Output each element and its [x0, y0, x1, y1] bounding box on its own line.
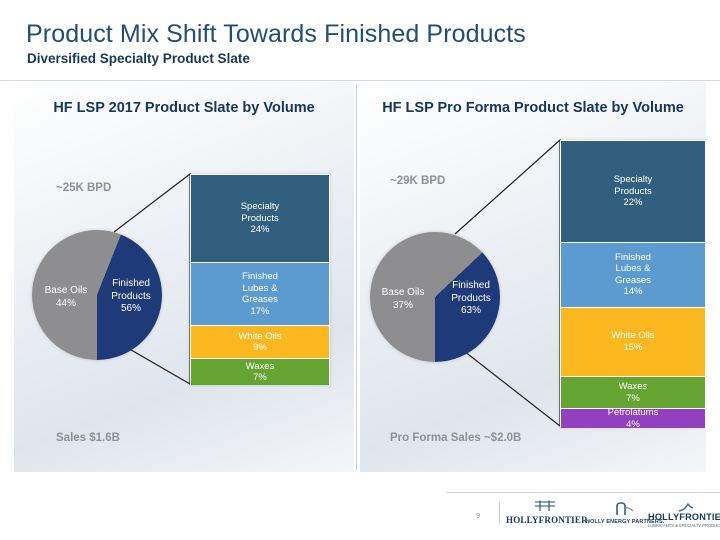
- panel-title-left: HF LSP 2017 Product Slate by Volume: [14, 100, 354, 116]
- logo-wordmark: HOLLYFRONTIER: [648, 513, 720, 522]
- bar-segment-label: White Oils 9%: [238, 331, 281, 354]
- bar-segment-label: Specialty Products 22%: [614, 174, 653, 209]
- lsp-swoosh-icon: [648, 503, 720, 512]
- panel-divider: [356, 84, 357, 470]
- pie-label-base-oils-left: Base Oils 44%: [38, 285, 94, 310]
- panel-pro-forma: HF LSP Pro Forma Product Slate by Volume…: [360, 82, 706, 472]
- bar-segment-label: Waxes 7%: [619, 381, 648, 404]
- bar-segment-finished-lubes-greases: Finished Lubes & Greases 14%: [561, 243, 705, 308]
- bar-segment-white-oils: White Oils 15%: [561, 308, 705, 377]
- logo-tagline: LUBRICANTS & SPECIALTY PRODUCTS: [648, 524, 720, 528]
- bar-segment-label: White Oils 15%: [611, 330, 654, 353]
- bar-segment-specialty-products: Specialty Products 24%: [191, 175, 329, 263]
- bar-segment-label: Finished Lubes & Greases 17%: [242, 271, 278, 317]
- capacity-label-right: ~29K BPD: [390, 175, 445, 187]
- footer-separator: [499, 502, 500, 524]
- panel-title-right: HF LSP Pro Forma Product Slate by Volume: [360, 100, 706, 116]
- panel-2017: HF LSP 2017 Product Slate by Volume ~25K…: [14, 82, 354, 472]
- logo-hollyfrontier-lsp: HOLLYFRONTIER LUBRICANTS & SPECIALTY PRO…: [648, 503, 720, 528]
- slide-canvas: Product Mix Shift Towards Finished Produ…: [0, 0, 720, 540]
- page-subtitle: Diversified Specialty Product Slate: [27, 51, 250, 66]
- page-title: Product Mix Shift Towards Finished Produ…: [26, 20, 526, 49]
- bar-segment-waxes: Waxes 7%: [191, 359, 329, 385]
- bar-segment-finished-lubes-greases: Finished Lubes & Greases 17%: [191, 263, 329, 326]
- hollyfrontier-mark-icon: [506, 500, 584, 516]
- bar-segment-specialty-products: Specialty Products 22%: [561, 141, 705, 243]
- stacked-bar-2017: Specialty Products 24% Finished Lubes & …: [190, 174, 330, 385]
- logo-wordmark: HOLLYFRONTIER.: [506, 516, 584, 525]
- pie-label-base-oils-right: Base Oils 37%: [376, 287, 430, 312]
- sales-label-right: Pro Forma Sales ~$2.0B: [390, 432, 521, 444]
- sales-label-left: Sales $1.6B: [56, 432, 120, 444]
- footer-divider: [446, 492, 720, 493]
- bar-segment-petrolatums: Petrolatums 4%: [561, 409, 705, 428]
- pie-label-finished-products-left: Finished Products 56%: [102, 278, 160, 316]
- bar-segment-white-oils: White Oils 9%: [191, 326, 329, 359]
- bar-segment-waxes: Waxes 7%: [561, 377, 705, 409]
- bar-segment-label: Specialty Products 24%: [241, 201, 280, 236]
- pie-chart-2017: Base Oils 44% Finished Products 56%: [32, 230, 162, 360]
- pie-label-finished-products-right: Finished Products 63%: [442, 280, 500, 318]
- logo-hollyfrontier: HOLLYFRONTIER.: [506, 500, 584, 525]
- stacked-bar-pro-forma: Specialty Products 22% Finished Lubes & …: [560, 140, 706, 427]
- bar-segment-label: Finished Lubes & Greases 14%: [615, 252, 651, 298]
- bar-segment-label: Waxes 7%: [246, 361, 275, 384]
- header-divider: [0, 80, 720, 81]
- page-number: 9: [476, 511, 480, 520]
- pie-chart-pro-forma: Base Oils 37% Finished Products 63%: [370, 232, 500, 362]
- capacity-label-left: ~25K BPD: [56, 182, 111, 194]
- bar-segment-label: Petrolatums 4%: [608, 407, 659, 430]
